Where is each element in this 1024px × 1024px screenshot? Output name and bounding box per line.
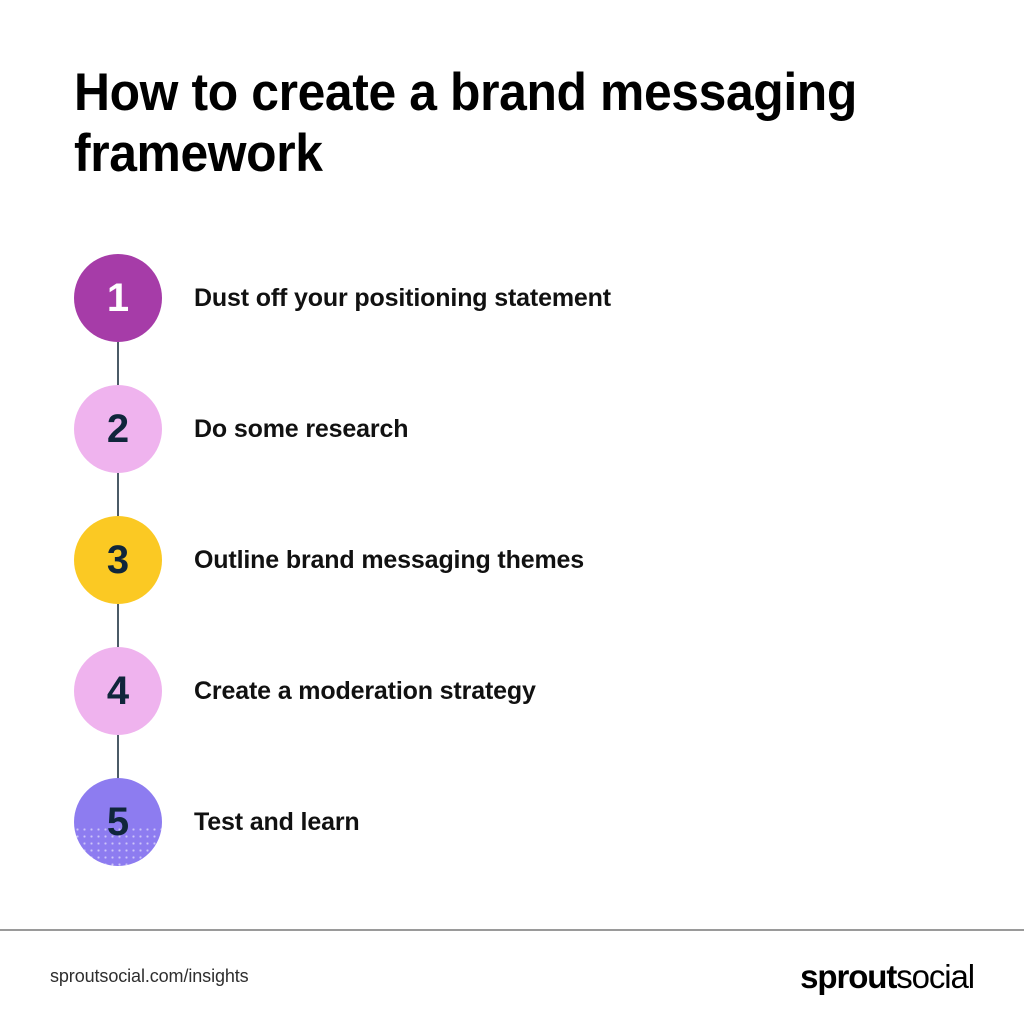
step-label-4: Create a moderation strategy [194,677,536,706]
footer-url: sproutsocial.com/insights [50,966,249,987]
list-item: 2 Do some research [74,385,954,473]
step-number-5: 5 [107,802,129,842]
connector-line [117,735,119,778]
logo-word-social: social [896,958,974,996]
infographic-canvas: How to create a brand messaging framewor… [0,0,1024,1024]
step-label-1: Dust off your positioning statement [194,284,611,313]
list-item: 5 Test and learn [74,778,954,866]
step-bullet-2: 2 [74,385,162,473]
sprout-social-logo: sprout social [800,958,974,996]
step-bullet-4: 4 [74,647,162,735]
step-bullet-5: 5 [74,778,162,866]
list-item: 1 Dust off your positioning statement [74,254,954,342]
step-bullet-3: 3 [74,516,162,604]
footer: sproutsocial.com/insights sprout social [0,929,1024,1024]
list-item: 4 Create a moderation strategy [74,647,954,735]
connector-line [117,342,119,385]
connector-line [117,473,119,516]
logo-word-sprout: sprout [800,958,896,996]
step-number-3: 3 [107,540,129,580]
steps-list: 1 Dust off your positioning statement 2 … [74,254,954,866]
page-title: How to create a brand messaging framewor… [74,62,882,185]
step-number-2: 2 [107,409,129,449]
step-number-1: 1 [107,278,129,318]
step-label-2: Do some research [194,415,408,444]
step-bullet-1: 1 [74,254,162,342]
list-item: 3 Outline brand messaging themes [74,516,954,604]
step-label-3: Outline brand messaging themes [194,546,584,575]
title-block: How to create a brand messaging framewor… [74,62,934,185]
connector-line [117,604,119,647]
step-label-5: Test and learn [194,808,360,837]
step-number-4: 4 [107,671,129,711]
